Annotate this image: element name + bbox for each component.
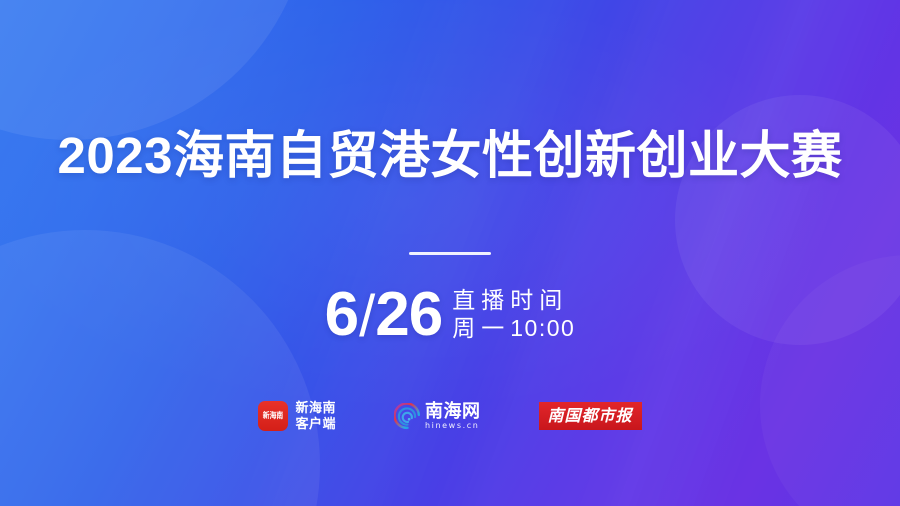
- partner-logo-row: 新海南 新海南 客户端: [0, 399, 900, 433]
- date-separator: /: [358, 289, 375, 344]
- broadcast-time-info: 直播时间 周一10:00: [452, 286, 575, 345]
- xinhainan-line2: 客户端: [295, 416, 336, 432]
- logo-hinews[interactable]: 南海网 hinews.cn: [394, 399, 481, 433]
- xinhainan-line1: 新海南: [295, 400, 336, 416]
- page-title: 2023海南自贸港女性创新创业大赛: [0, 127, 900, 186]
- logo-nanguo-metropolis-daily[interactable]: 南国都市报: [539, 399, 642, 433]
- livestream-promo-poster: 2023海南自贸港女性创新创业大赛 6 / 26 直播时间 周一10:00 新海…: [0, 0, 900, 506]
- nanguo-banner-text: 南国都市报: [548, 408, 633, 424]
- logo-xinhainan-client[interactable]: 新海南 新海南 客户端: [258, 399, 336, 433]
- hinews-cn-name: 南海网: [425, 402, 481, 420]
- date-month: 6: [325, 286, 358, 345]
- broadcast-weekday-time: 周一10:00: [452, 314, 575, 342]
- xinhainan-wordmark: 新海南 客户端: [295, 400, 336, 432]
- date-day: 26: [375, 286, 442, 345]
- xinhainan-app-icon: 新海南: [258, 401, 288, 431]
- title-divider: [409, 252, 491, 255]
- date-numerals: 6 / 26: [325, 286, 443, 345]
- broadcast-time: 10:00: [510, 315, 575, 341]
- hinews-domain: hinews.cn: [425, 422, 481, 430]
- broadcast-date-block: 6 / 26 直播时间 周一10:00: [0, 286, 900, 345]
- broadcast-weekday: 周一: [452, 315, 510, 341]
- poster-content: 2023海南自贸港女性创新创业大赛 6 / 26 直播时间 周一10:00 新海…: [0, 0, 900, 506]
- xinhainan-icon-text: 新海南: [263, 412, 283, 420]
- nanguo-red-banner: 南国都市报: [539, 402, 642, 430]
- hinews-wordmark: 南海网 hinews.cn: [425, 402, 481, 430]
- broadcast-time-label: 直播时间: [452, 286, 575, 314]
- hinews-swirl-icon: [394, 403, 421, 430]
